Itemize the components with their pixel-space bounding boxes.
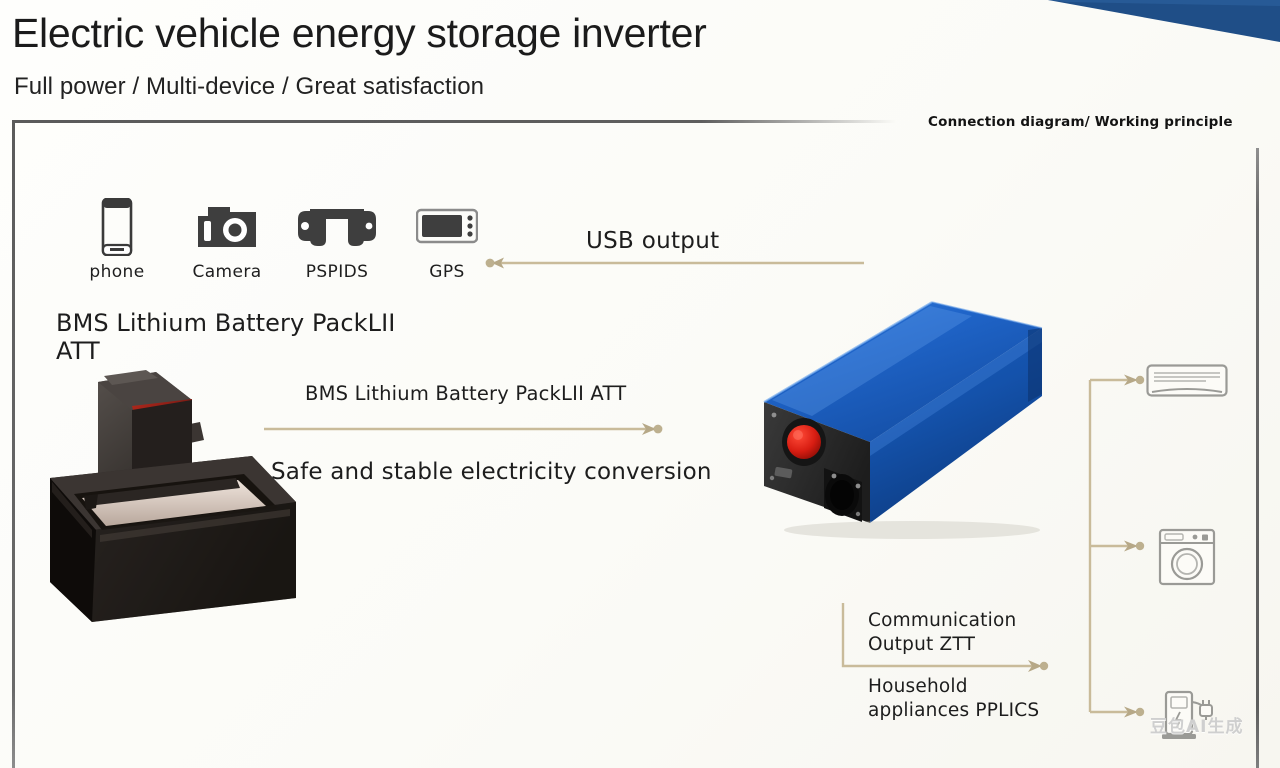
slide-canvas: Electric vehicle energy storage inverter…	[0, 0, 1280, 768]
device-label: PSPIDS	[306, 262, 369, 282]
corner-banner-wedge	[1048, 0, 1280, 42]
bms-lithium-battery-pack-photo	[40, 370, 302, 628]
device-item-pspids[interactable]: PSPIDS	[282, 196, 392, 282]
device-label: Camera	[192, 262, 261, 282]
safe-conversion-label: Safe and stable electricity conversion	[271, 459, 712, 485]
appliance-distribution-bus	[1080, 374, 1170, 718]
washing-machine-icon	[1158, 528, 1216, 586]
frame-left-border	[12, 120, 15, 768]
usb-output-label: USB output	[586, 228, 719, 254]
appliance-item-air-conditioner[interactable]	[1146, 364, 1228, 405]
device-item-phone[interactable]: phone	[62, 196, 172, 282]
blue-aluminum-inverter-photo	[742, 290, 1064, 545]
appliance-item-washing-machine[interactable]	[1158, 528, 1216, 591]
camera-icon	[196, 196, 258, 258]
usb-output-connector	[478, 252, 866, 274]
gps-navigator-icon	[416, 196, 478, 258]
device-item-gps[interactable]: GPS	[392, 196, 502, 282]
device-item-camera[interactable]: Camera	[172, 196, 282, 282]
bms-link-label: BMS Lithium Battery PackLII ATT	[305, 382, 626, 405]
page-title: Electric vehicle energy storage inverter	[12, 12, 706, 55]
smartphone-icon	[100, 196, 134, 258]
frame-right-border	[1256, 148, 1259, 768]
device-label: phone	[89, 262, 144, 282]
bms-pack-title: BMS Lithium Battery PackLII ATT	[56, 309, 395, 365]
device-list: phone Camera	[62, 196, 502, 282]
ai-watermark: 豆包AI生成	[1150, 712, 1243, 737]
diagram-caption: Connection diagram/ Working principle	[928, 114, 1233, 130]
handheld-console-icon	[296, 196, 378, 258]
bms-link-connector	[262, 418, 670, 440]
page-subtitle: Full power / Multi-device / Great satisf…	[14, 74, 484, 100]
communication-output-label: Communication Output ZTT	[868, 609, 1016, 657]
air-conditioner-icon	[1146, 364, 1228, 400]
device-label: GPS	[429, 262, 464, 282]
household-appliances-label: Household appliances PPLICS	[868, 675, 1039, 723]
frame-top-border	[12, 120, 896, 123]
